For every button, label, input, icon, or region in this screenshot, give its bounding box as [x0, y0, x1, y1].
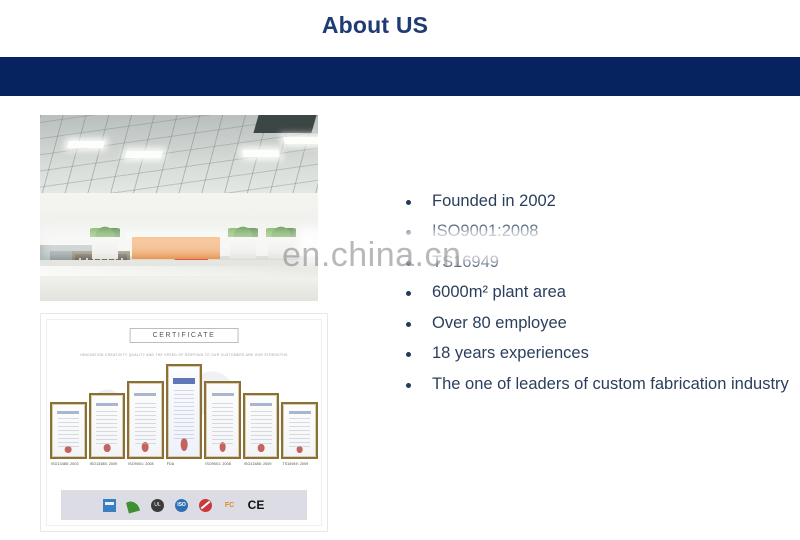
- certificate-frame: [204, 381, 241, 459]
- ce-mark-icon: CE: [247, 499, 265, 512]
- ceiling-lamp: [283, 137, 318, 144]
- certificate-caption: ISO13485: 2009: [89, 462, 126, 484]
- ceiling-lamp: [125, 151, 163, 158]
- list-item: 6000m² plant area: [398, 283, 790, 302]
- certificate-frame: [127, 381, 164, 459]
- certificate-inner: CERTIFICATE INNOVATION CREATIVITY QUALIT…: [46, 319, 322, 526]
- list-item: The one of leaders of custom fabrication…: [398, 375, 790, 394]
- reception-desk: [132, 237, 220, 259]
- certificate-row: [50, 364, 318, 459]
- rohs-mark-icon: [199, 499, 212, 512]
- green-leaf-icon: [126, 497, 142, 513]
- potted-plant: [268, 235, 294, 259]
- certificate-collage-image: CERTIFICATE INNOVATION CREATIVITY QUALIT…: [40, 313, 328, 532]
- list-item: Over 80 employee: [398, 314, 790, 333]
- potted-plant: [92, 235, 118, 259]
- certificate-caption-row: ISO13485: 2003 ISO13485: 2009 ISO9001: 2…: [50, 462, 318, 484]
- compliance-logo-bar: ISO FC CE: [61, 490, 307, 520]
- iso-mark-icon: ISO: [175, 499, 188, 512]
- potted-plant: [230, 235, 256, 259]
- title-divider-bar: [0, 57, 800, 96]
- ceiling-lamp: [242, 150, 279, 157]
- page-title: About US: [0, 12, 750, 39]
- certificate-caption: ISO13485: 2009: [243, 462, 280, 484]
- ceiling-vent: [253, 115, 316, 133]
- certificate-frame: [166, 364, 203, 459]
- fcc-mark-icon: FC: [223, 499, 236, 512]
- list-item: ISO9001:2008: [398, 222, 790, 241]
- certificate-caption: ISO13485: 2003: [50, 462, 87, 484]
- certification-badge-icon: [103, 499, 116, 512]
- list-item: TS16949: [398, 253, 790, 272]
- list-item: 18 years experiences: [398, 344, 790, 363]
- certificate-frame: [50, 402, 87, 459]
- certificate-caption: FDA: [166, 462, 203, 484]
- office-reception-photo: [40, 115, 318, 301]
- certificate-heading: CERTIFICATE: [130, 328, 239, 343]
- ceiling-lamp: [67, 141, 105, 148]
- lobby-floor: [40, 260, 318, 301]
- certificate-caption: TS16949: 2009: [281, 462, 318, 484]
- list-item: Founded in 2002: [398, 192, 790, 211]
- ul-mark-icon: [151, 499, 164, 512]
- certificate-tagline: INNOVATION CREATIVITY QUALITY AND THE SP…: [47, 353, 321, 357]
- company-facts-list: Founded in 2002 ISO9001:2008 TS16949 600…: [398, 192, 790, 405]
- certificate-caption: ISO9001: 2008: [127, 462, 164, 484]
- certificate-frame: [243, 393, 280, 460]
- certificate-frame: [281, 402, 318, 459]
- certificate-caption: ISO9001: 2008: [204, 462, 241, 484]
- certificate-frame: [89, 393, 126, 460]
- ceiling: [40, 115, 318, 197]
